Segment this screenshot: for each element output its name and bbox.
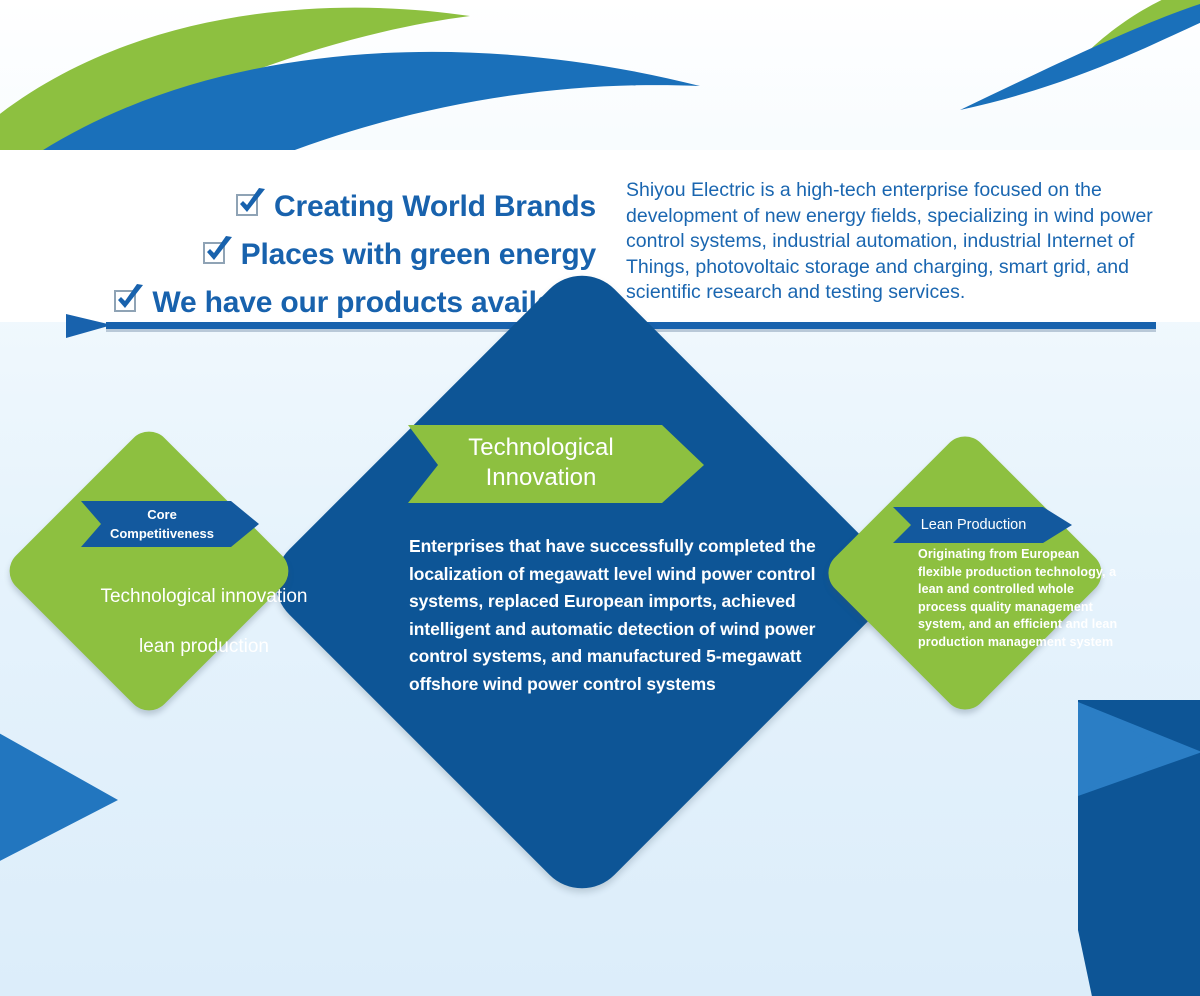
right-card-body: Originating from European flexible produ… xyxy=(918,546,1126,651)
left-card-body-line2: lean production xyxy=(70,622,338,672)
blue-swoosh-top-right xyxy=(960,0,1200,110)
checkbox-checked-icon xyxy=(114,290,140,316)
checklist: Creating World Brands Places with green … xyxy=(86,184,596,328)
checklist-item-label: Places with green energy xyxy=(241,238,596,272)
blue-triangle-bottom-left xyxy=(0,728,118,866)
green-swoosh-top-right-2 xyxy=(1076,0,1200,66)
blue-block-bottom-right xyxy=(1078,700,1200,996)
blue-triangle-bottom-right-inner xyxy=(1078,702,1164,794)
checklist-item-label: Creating World Brands xyxy=(274,190,596,224)
left-banner: Core Competitiveness xyxy=(79,499,259,549)
left-card-body-line1: Technological innovation xyxy=(70,572,338,622)
intro-paragraph: Shiyou Electric is a high-tech enterpris… xyxy=(626,178,1156,306)
blue-triangle-bottom-right xyxy=(1078,702,1200,796)
left-diamond-card xyxy=(1,423,298,720)
green-swoosh-top-right xyxy=(1074,0,1200,66)
checkbox-checked-icon xyxy=(236,194,262,220)
right-banner: Lean Production xyxy=(891,505,1072,545)
checklist-item[interactable]: Creating World Brands xyxy=(86,184,596,230)
center-card-body: Enterprises that have successfully compl… xyxy=(409,533,821,698)
checklist-item[interactable]: Places with green energy xyxy=(86,232,596,278)
slide-canvas: Creating World Brands Places with green … xyxy=(0,0,1200,996)
center-banner: Technological Innovation xyxy=(404,419,704,507)
checkbox-checked-icon xyxy=(203,242,229,268)
left-card-body: Technological innovation lean production xyxy=(70,572,338,672)
